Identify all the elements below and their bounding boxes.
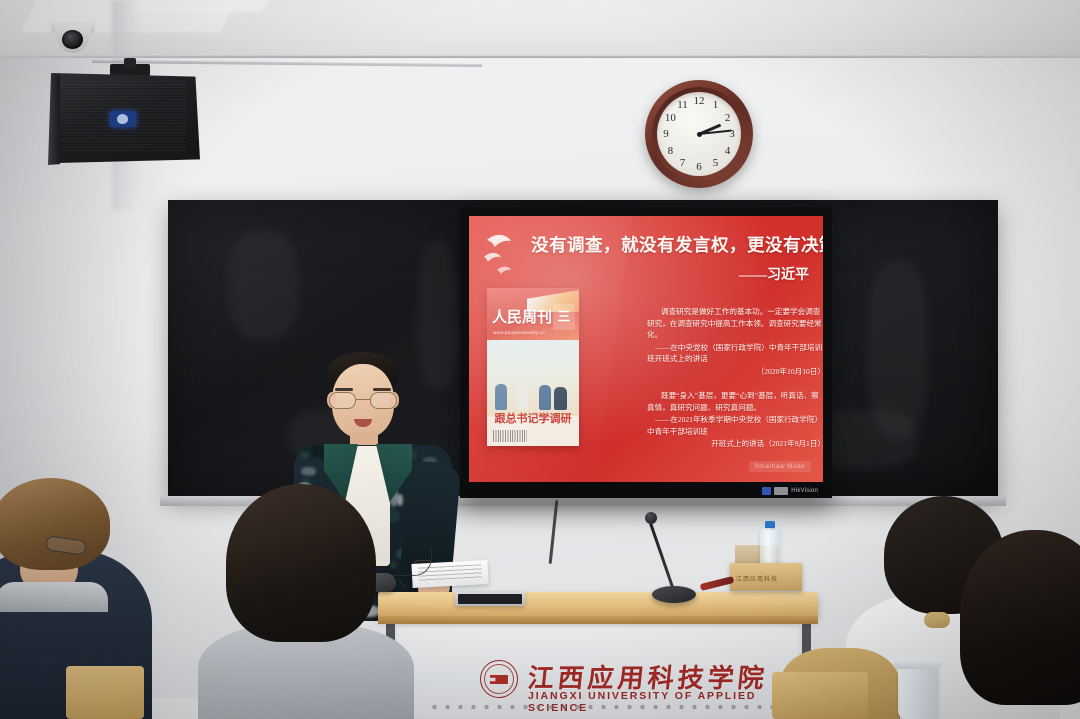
audience-hair — [226, 484, 376, 642]
paragraph-source: ——在中央党校（国家行政学院）中青年干部培训班开班式上的讲话 — [647, 342, 823, 365]
paragraph-lead: 调查研究是做好工作的基本功。一定要学会调查研究，在调查研究中提高工作本领。调查研… — [647, 306, 823, 341]
magazine-issue-box: 三 — [553, 304, 575, 330]
clock-numeral: 10 — [663, 112, 677, 124]
chair — [772, 672, 868, 719]
magazine-title: 人民周刊 — [492, 306, 552, 327]
university-crest-icon — [480, 660, 518, 698]
slide-paragraph: 调查研究是做好工作的基本功。一定要学会调查研究，在调查研究中提高工作本领。调查研… — [647, 306, 823, 377]
clock-numeral: 4 — [721, 145, 735, 157]
slide-paragraph: 既要“身入”基层，更要“心到”基层，听真话、察真情，真研究问题、研究真问题。 —… — [647, 390, 823, 450]
brand-mark-grey — [774, 487, 788, 495]
speaker-logo-icon — [110, 111, 136, 127]
magazine-caption: 跟总书记学调研 — [487, 410, 579, 426]
drink-cup-lid — [894, 658, 942, 669]
display-brand-logo: HikVision — [762, 487, 818, 495]
clock-numeral: 11 — [676, 99, 690, 111]
paragraph-date: 开班式上的讲话（2021年9月1日） — [647, 438, 823, 450]
magazine-figure — [517, 386, 528, 410]
speaker-bracket-top — [124, 58, 136, 68]
camo-blob — [397, 494, 404, 506]
clock-numeral: 9 — [659, 128, 673, 140]
magazine-figure — [495, 384, 507, 410]
camera-lens — [62, 30, 83, 49]
magazine-masthead: 人民周刊 三 www.peoplesweekly.cn — [487, 288, 579, 340]
ceiling — [0, 0, 1080, 62]
paragraph-date: （2020年10月10日） — [647, 366, 823, 378]
lectern-perforations — [428, 703, 808, 711]
audience-hair — [960, 530, 1080, 705]
glasses-bridge — [356, 399, 370, 400]
clock-numeral: 5 — [709, 157, 723, 169]
magazine-url: www.peoplesweekly.cn — [493, 330, 545, 335]
audience-hair — [0, 478, 110, 570]
clock-numeral: 12 — [692, 95, 706, 107]
security-camera-icon — [52, 18, 94, 56]
display-screen: 没有调查，就没有发言权，更没有决策权！ ——习近平 人民周刊 三 www.peo… — [469, 216, 823, 482]
paragraph-source: ——在2021年秋季学期中央党校（国家行政学院）中青年干部培训班 — [647, 414, 823, 437]
drink-cup — [898, 664, 938, 719]
presenter-glasses — [329, 392, 397, 409]
display-bezel: HikVision — [460, 482, 832, 498]
magazine-figure — [554, 387, 567, 410]
clock-numeral: 7 — [676, 157, 690, 169]
magazine-barcode — [493, 430, 527, 442]
lectern-edge — [378, 616, 818, 624]
presenter-brow-right — [373, 388, 391, 391]
audience-member — [960, 530, 1080, 719]
lectern-front-panel: 江西应用科技学院 JIANGXI UNIVERSITY OF APPLIED S… — [396, 624, 800, 719]
magazine-figure — [539, 385, 551, 410]
presentation-display[interactable]: 没有调查，就没有发言权，更没有决策权！ ——习近平 人民周刊 三 www.peo… — [460, 207, 832, 498]
audience-collar — [0, 582, 108, 612]
magazine-photo — [487, 340, 579, 416]
slide-watermark: Smartlaw Mode — [749, 461, 811, 472]
wooden-box-label: 江西应用科技 — [736, 574, 778, 583]
classroom-photo: 121234567891011 没有调查，就没有发言权，更没有决策权！ ——习近… — [0, 0, 1080, 719]
dove-icon — [481, 230, 535, 282]
speaker-side-panel — [48, 73, 60, 165]
microphone-head[interactable] — [645, 512, 657, 524]
glasses-lens-right — [370, 392, 397, 409]
audience-member — [212, 484, 392, 719]
wall-speaker — [48, 73, 200, 165]
lectern: 江西应用科技学院 JIANGXI UNIVERSITY OF APPLIED S… — [378, 592, 818, 719]
paragraph-lead: 既要“身入”基层，更要“心到”基层，听真话、察真情，真研究问题、研究真问题。 — [647, 390, 823, 413]
hair-tie — [924, 612, 950, 628]
chalk-smudge — [228, 230, 298, 340]
clock-center-pin — [697, 132, 702, 137]
lectern-top — [378, 592, 818, 618]
magazine-cover: 人民周刊 三 www.peoplesweekly.cn 跟总书记学调研 — [487, 288, 579, 446]
wall-clock: 121234567891011 — [645, 80, 753, 188]
presenter-brow-left — [335, 388, 353, 391]
clock-numeral: 8 — [663, 145, 677, 157]
slide-attribution: ——习近平 — [739, 264, 809, 284]
tablet-device[interactable] — [455, 592, 525, 606]
slide-headline: 没有调查，就没有发言权，更没有决策权！ — [531, 232, 823, 257]
slide-body: 调查研究是做好工作的基本功。一定要学会调查研究，在调查研究中提高工作本领。调查研… — [647, 306, 823, 463]
clock-numeral: 6 — [692, 161, 706, 173]
brand-mark-blue — [762, 487, 771, 495]
clock-numeral: 1 — [709, 99, 723, 111]
magazine-issue-number: 三 — [553, 304, 575, 330]
glasses-lens-left — [329, 392, 356, 409]
brand-name: HikVision — [791, 488, 818, 494]
chair — [66, 666, 144, 719]
microphone-base — [652, 586, 696, 603]
clock-numeral: 2 — [721, 112, 735, 124]
speaker-body — [48, 73, 200, 163]
